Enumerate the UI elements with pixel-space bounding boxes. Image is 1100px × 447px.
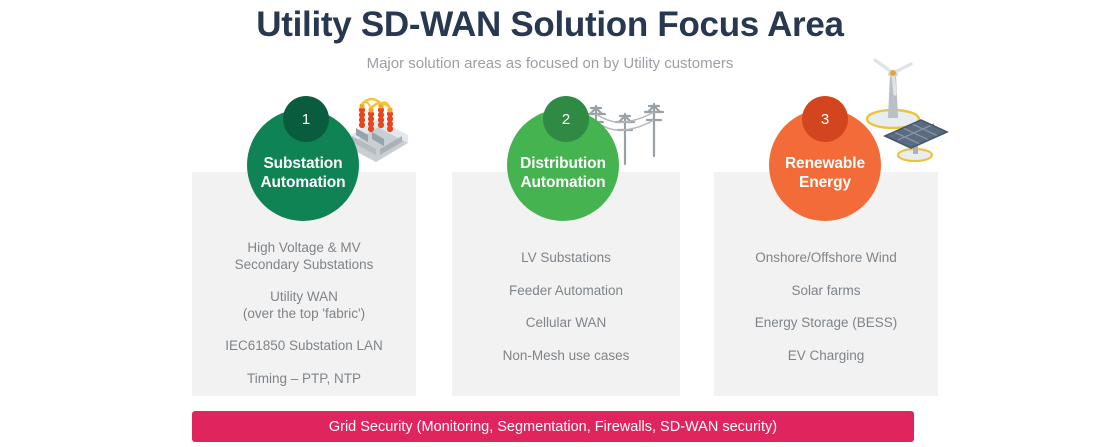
bubble-label: Distribution Automation xyxy=(516,154,610,192)
list-item: Solar farms xyxy=(720,283,932,300)
list-item-line1: Solar farms xyxy=(791,283,860,298)
list-item-line1: Cellular WAN xyxy=(526,315,607,330)
list-item: Energy Storage (BESS) xyxy=(720,315,932,332)
list-item-line1: Energy Storage (BESS) xyxy=(755,315,898,330)
page-title: Utility SD-WAN Solution Focus Area xyxy=(0,3,1100,47)
list-item: Non-Mesh use cases xyxy=(458,348,674,365)
bubble-label-line1: Renewable xyxy=(785,155,865,172)
list-item-line2: (over the top 'fabric') xyxy=(198,306,410,323)
list-item-line1: IEC61850 Substation LAN xyxy=(225,338,383,353)
list-item-line1: Non-Mesh use cases xyxy=(503,348,630,363)
list-item: LV Substations xyxy=(458,250,674,267)
list-item-line1: EV Charging xyxy=(788,348,865,363)
list-item-line1: LV Substations xyxy=(521,250,611,265)
list-item: Feeder Automation xyxy=(458,283,674,300)
bubble-label-line1: Substation xyxy=(263,155,342,172)
list-item-line1: Onshore/Offshore Wind xyxy=(755,250,897,265)
step-number-badge-1: 1 xyxy=(283,96,329,142)
grid-security-banner: Grid Security (Monitoring, Segmentation,… xyxy=(192,411,914,442)
list-item: Onshore/Offshore Wind xyxy=(720,250,932,267)
step-number-badge-3: 3 xyxy=(802,96,848,142)
list-item-line1: Timing – PTP, NTP xyxy=(247,371,361,386)
step-number-badge-2: 2 xyxy=(543,96,589,142)
bubble-label-line2: Energy xyxy=(799,174,851,191)
bubble-label-line2: Automation xyxy=(520,174,605,191)
bubble-label-line2: Automation xyxy=(260,174,345,191)
list-item: Cellular WAN xyxy=(458,315,674,332)
list-item: Utility WAN (over the top 'fabric') xyxy=(198,289,410,322)
infographic-canvas: Utility SD-WAN Solution Focus Area Major… xyxy=(0,0,1100,447)
list-item-line2: Secondary Substations xyxy=(198,257,410,274)
focus-area-item-list: High Voltage & MV Secondary Substations … xyxy=(192,240,416,387)
list-item-line1: Utility WAN xyxy=(270,289,338,304)
bubble-label-line1: Distribution xyxy=(520,155,606,172)
list-item-line1: High Voltage & MV xyxy=(247,240,360,255)
focus-area-item-list: LV Substations Feeder Automation Cellula… xyxy=(452,250,680,364)
bubble-label: Substation Automation xyxy=(256,154,349,192)
bubble-label: Renewable Energy xyxy=(781,154,869,192)
focus-area-item-list: Onshore/Offshore Wind Solar farms Energy… xyxy=(714,250,938,364)
list-item: IEC61850 Substation LAN xyxy=(198,338,410,355)
list-item-line1: Feeder Automation xyxy=(509,283,623,298)
list-item: EV Charging xyxy=(720,348,932,365)
list-item: High Voltage & MV Secondary Substations xyxy=(198,240,410,273)
list-item: Timing – PTP, NTP xyxy=(198,371,410,388)
